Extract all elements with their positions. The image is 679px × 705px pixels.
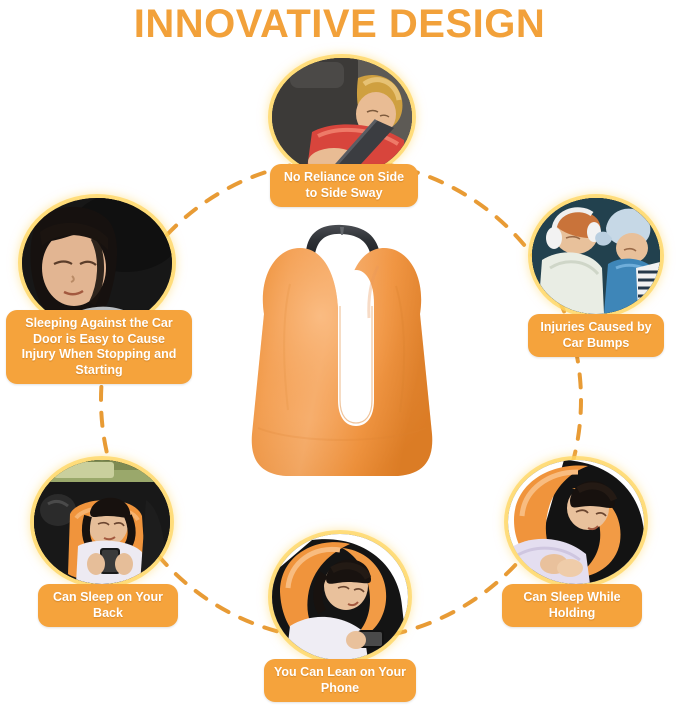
callout-label-bottom-left: Can Sleep on Your Back [38,584,178,627]
callout-photo-bottom-right [508,460,644,584]
infographic-canvas: INNOVATIVE DESIGN [0,0,679,705]
callout-photo-bottom-center [272,534,408,660]
callout-label-bottom-center: You Can Lean on Your Phone [264,659,416,702]
callout-photo-bottom-left [34,460,170,584]
product-travel-pillow [228,222,456,484]
callout-label-top: No Reliance on Side to Side Sway [270,164,418,207]
pillow-carry-strap [306,225,380,256]
callout-photo-top [272,58,412,176]
callout-label-right: Injuries Caused by Car Bumps [528,314,664,357]
callout-photo-right [532,198,660,314]
callout-label-bottom-right: Can Sleep While Holding [502,584,642,627]
page-title: INNOVATIVE DESIGN [0,2,679,46]
callout-photo-left [22,198,172,328]
callout-label-left: Sleeping Against the Car Door is Easy to… [6,310,192,384]
